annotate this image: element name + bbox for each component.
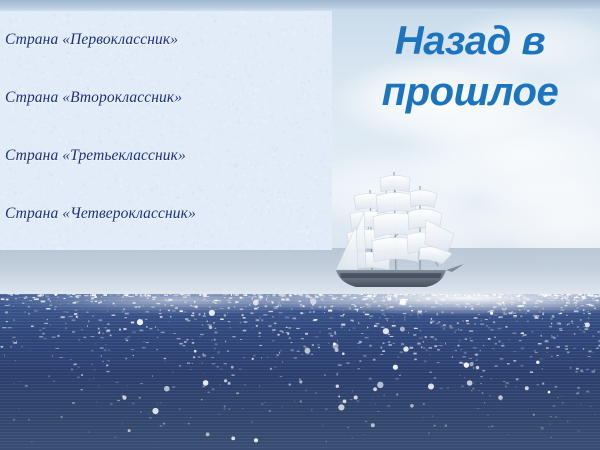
sea-horizon-glare bbox=[0, 294, 600, 328]
top-edge-strip bbox=[0, 0, 600, 11]
list-item: Страна «Четвероклассник» bbox=[5, 205, 327, 223]
page-title-line-1: Назад в bbox=[345, 16, 595, 67]
list-item: Страна «Первоклассник» bbox=[5, 31, 327, 49]
tall-ship-icon bbox=[330, 160, 475, 295]
page-title-line-2: прошлое bbox=[345, 67, 595, 118]
list-item: Страна «Третьеклассник» bbox=[5, 147, 327, 165]
slide-canvas: Страна «Первоклассник» Страна «Второклас… bbox=[0, 0, 600, 450]
country-list-panel: Страна «Первоклассник» Страна «Второклас… bbox=[0, 11, 332, 250]
country-list: Страна «Первоклассник» Страна «Второклас… bbox=[0, 11, 332, 250]
list-item: Страна «Второклассник» bbox=[5, 89, 327, 107]
horizon-haze bbox=[0, 248, 600, 298]
page-title: Назад в прошлое bbox=[345, 16, 595, 118]
